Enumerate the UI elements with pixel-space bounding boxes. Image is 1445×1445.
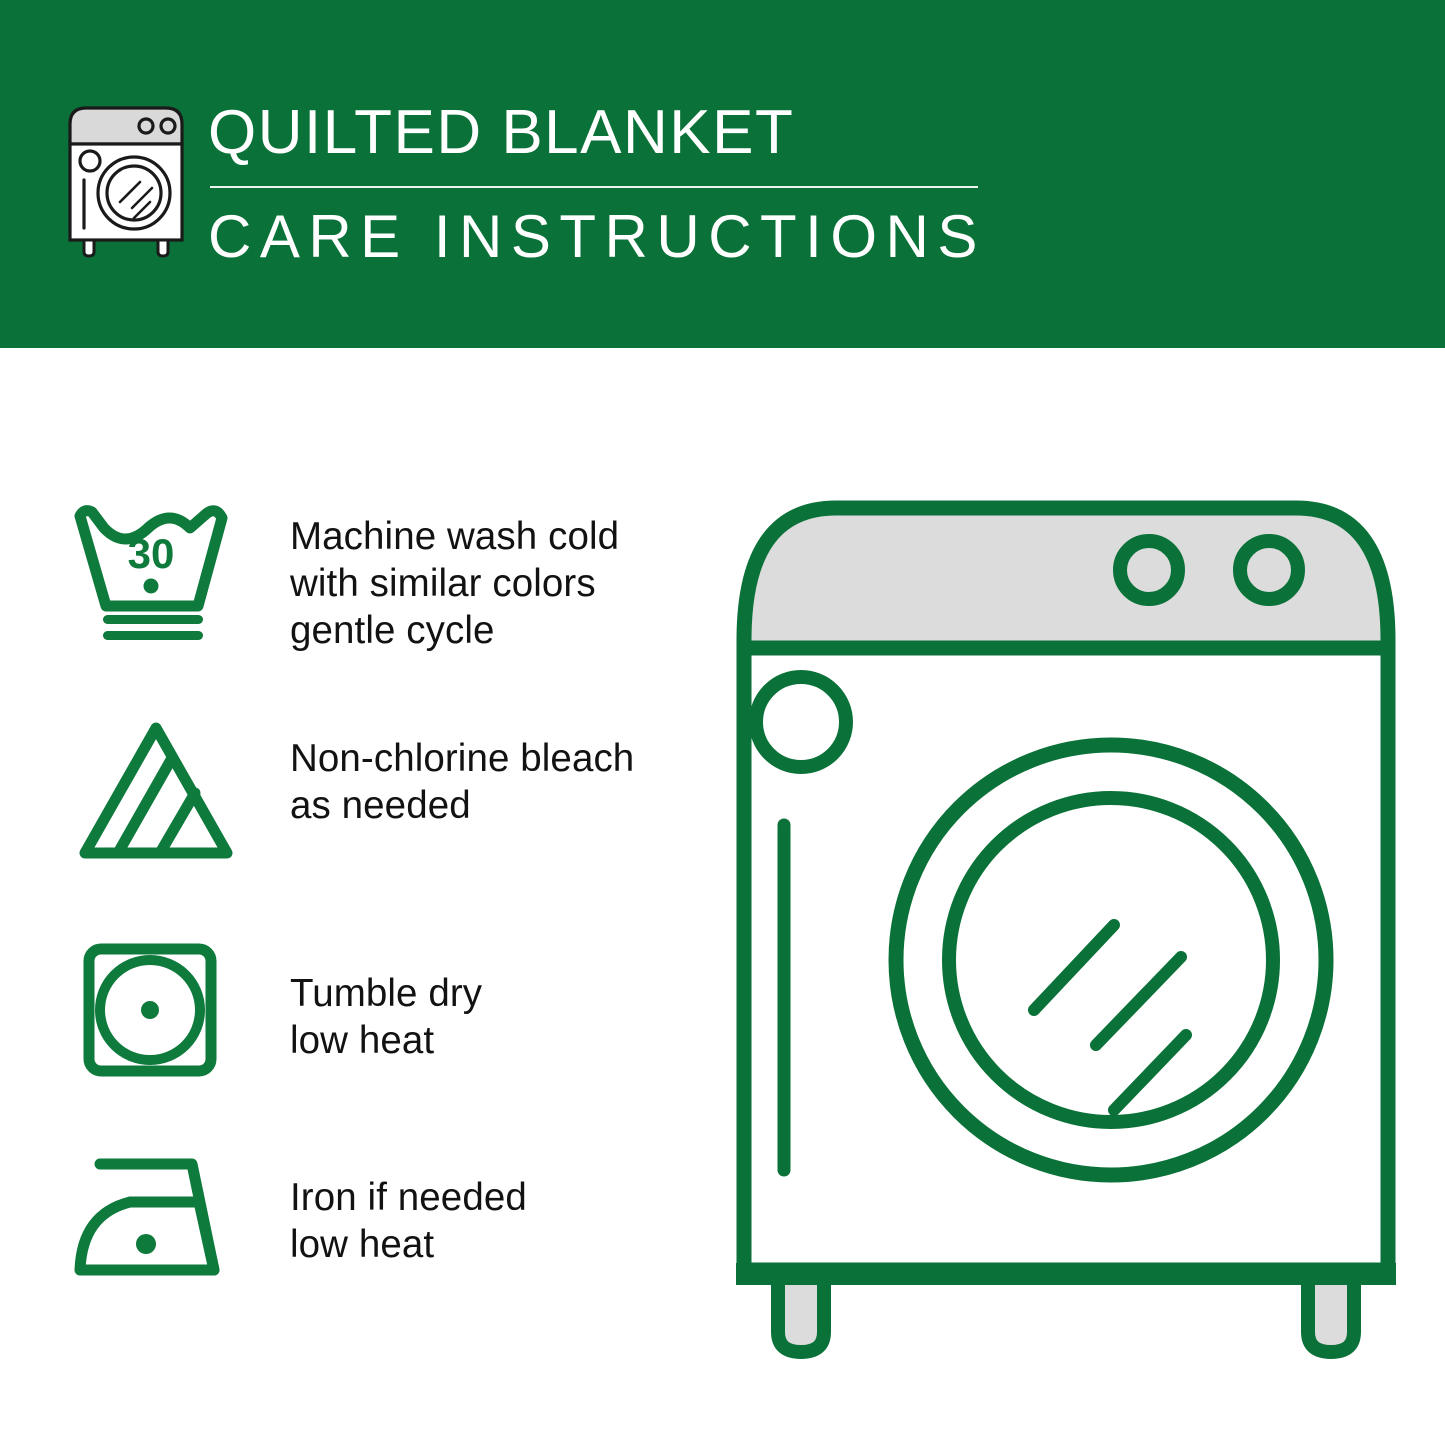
page-subtitle: CARE INSTRUCTIONS — [208, 202, 998, 272]
washing-machine-logo-icon — [62, 98, 190, 258]
care-text-iron: Iron if needed low heat — [290, 1174, 527, 1268]
bleach-triangle-icon — [72, 718, 240, 866]
title-divider — [210, 186, 978, 188]
svg-text:30: 30 — [128, 530, 175, 577]
tumble-dry-icon — [80, 940, 220, 1080]
wash-tub-icon: 30 — [70, 498, 240, 648]
iron-icon — [68, 1152, 233, 1282]
header-band: QUILTED BLANKET CARE INSTRUCTIONS — [0, 0, 1445, 348]
care-instructions-page: QUILTED BLANKET CARE INSTRUCTIONS 30 Mac… — [0, 0, 1445, 1445]
title-block: QUILTED BLANKET CARE INSTRUCTIONS — [208, 96, 998, 272]
washing-machine-illustration — [716, 470, 1416, 1360]
care-text-bleach: Non-chlorine bleach as needed — [290, 735, 634, 829]
page-title: QUILTED BLANKET — [208, 96, 998, 170]
care-text-wash: Machine wash cold with similar colors ge… — [290, 513, 619, 654]
care-text-dry: Tumble dry low heat — [290, 970, 482, 1064]
